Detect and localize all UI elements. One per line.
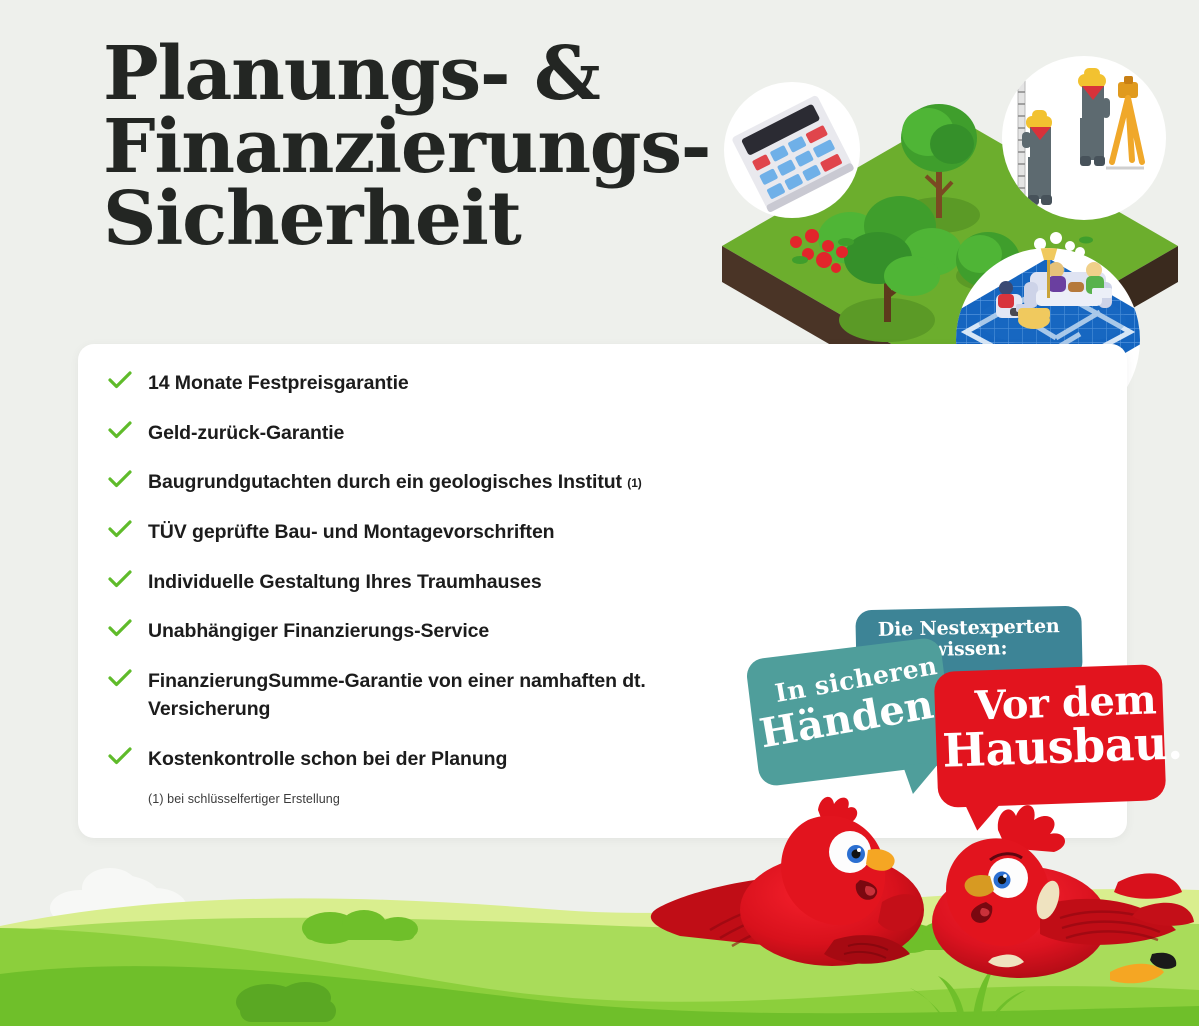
check-icon bbox=[108, 470, 148, 493]
list-item-label: Unabhängiger Finanzierungs-Service bbox=[148, 618, 489, 646]
list-item: Individuelle Gestaltung Ihres Traumhause… bbox=[108, 569, 748, 597]
check-icon bbox=[108, 421, 148, 444]
list-item: 14 Monate Festpreisgarantie bbox=[108, 370, 748, 398]
check-icon bbox=[108, 371, 148, 394]
list-item: Baugrundgutachten durch ein geologisches… bbox=[108, 469, 748, 497]
benefits-list: 14 Monate Festpreisgarantie Geld-zurück-… bbox=[108, 370, 748, 795]
bubble-tail bbox=[902, 764, 939, 795]
list-item: Kostenkontrolle schon bei der Planung bbox=[108, 746, 748, 774]
list-item-label: FinanzierungSumme-Garantie von einer nam… bbox=[148, 668, 688, 723]
list-item: FinanzierungSumme-Garantie von einer nam… bbox=[108, 668, 748, 723]
list-item: Unabhängiger Finanzierungs-Service bbox=[108, 618, 748, 646]
list-item-label: Individuelle Gestaltung Ihres Traumhause… bbox=[148, 569, 542, 597]
bush-center bbox=[236, 982, 336, 1022]
check-icon bbox=[108, 669, 148, 692]
footnote-marker: (1) bbox=[627, 476, 641, 490]
list-item-label: Kostenkontrolle schon bei der Planung bbox=[148, 746, 507, 774]
calculator-inset bbox=[724, 82, 860, 218]
list-item-label: Geld-zurück-Garantie bbox=[148, 420, 344, 448]
bird-right bbox=[932, 805, 1194, 983]
red-birds-illustration bbox=[620, 790, 1199, 1026]
bubble-vordem-line2: Hausbau. bbox=[942, 715, 1184, 777]
list-item: TÜV geprüfte Bau- und Montagevorschrifte… bbox=[108, 519, 748, 547]
check-icon bbox=[108, 570, 148, 593]
speech-bubble-sichere-haende: In sicheren Händen... bbox=[745, 637, 955, 788]
bubble-tail bbox=[964, 802, 1003, 831]
list-item-label: Baugrundgutachten durch ein geologisches… bbox=[148, 469, 642, 497]
speech-bubble-vor-dem-hausbau: Vor dem Hausbau. bbox=[934, 664, 1167, 808]
list-item-label: 14 Monate Festpreisgarantie bbox=[148, 370, 409, 398]
card-footnote: (1) bei schlüsselfertiger Erstellung bbox=[148, 792, 340, 806]
bird-left bbox=[651, 797, 924, 966]
page-title: Planungs- & Finanzierungs- Sicherheit bbox=[103, 38, 743, 256]
list-item: Geld-zurück-Garantie bbox=[108, 420, 748, 448]
check-icon bbox=[108, 520, 148, 543]
surveyors-inset bbox=[1002, 56, 1166, 220]
list-item-label: TÜV geprüfte Bau- und Montagevorschrifte… bbox=[148, 519, 555, 547]
check-icon bbox=[108, 747, 148, 770]
check-icon bbox=[108, 619, 148, 642]
poster-stage: Planungs- & Finanzierungs- Sicherheit bbox=[0, 0, 1199, 1026]
